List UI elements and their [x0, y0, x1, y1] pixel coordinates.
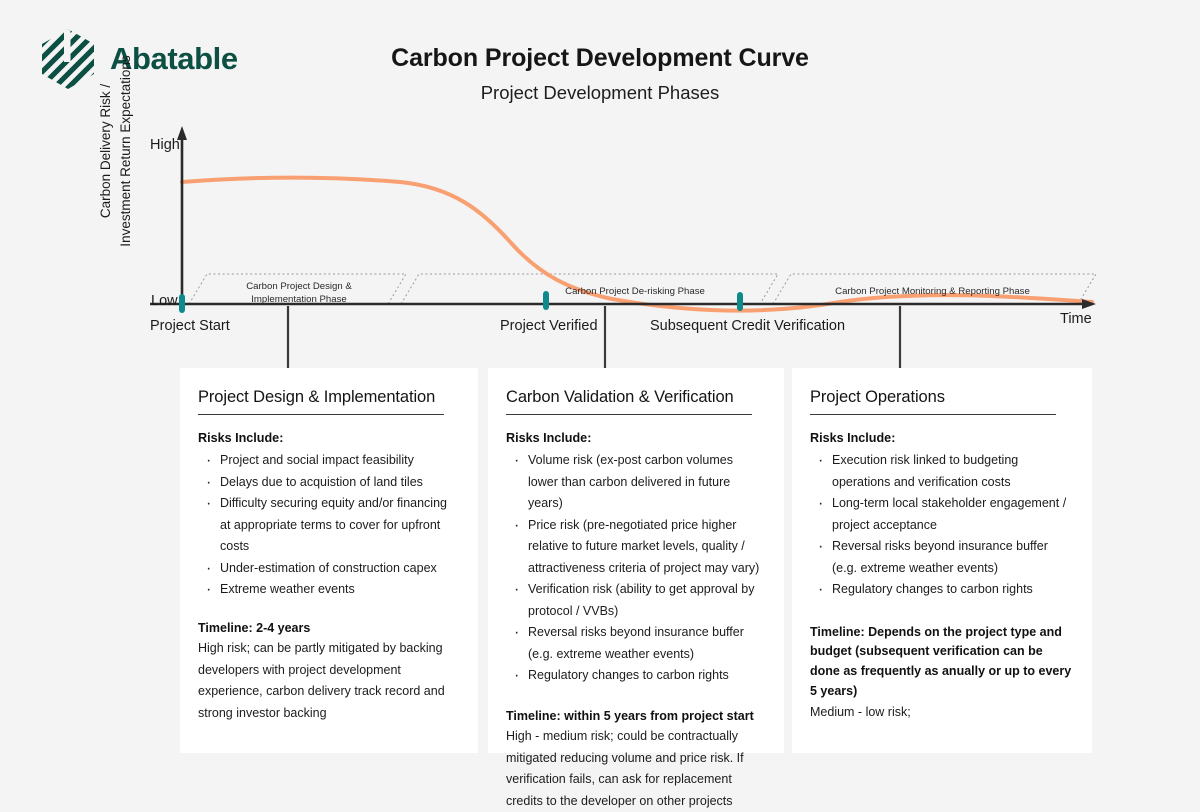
milestone-marker-project-start — [179, 294, 185, 313]
phase-label-monitoring-reporting: Carbon Project Monitoring & Reporting Ph… — [790, 286, 1075, 299]
risk-item: Price risk (pre-negotiated price higher … — [526, 515, 766, 580]
card-connector-lines — [288, 306, 900, 368]
card-title: Project Design & Implementation — [198, 388, 444, 415]
risks-list: Execution risk linked to budgeting opera… — [810, 450, 1074, 601]
card-title: Carbon Validation & Verification — [506, 388, 752, 415]
milestone-label-subsequent-credit-verification: Subsequent Credit Verification — [650, 318, 845, 334]
risk-item: Regulatory changes to carbon rights — [830, 579, 1074, 601]
milestone-label-project-start: Project Start — [150, 318, 230, 334]
timeline-block: Timeline: 2-4 years High risk; can be pa… — [198, 619, 460, 725]
timeline-body: High risk; can be partly mitigated by ba… — [198, 638, 460, 724]
risk-item: Extreme weather events — [218, 579, 460, 601]
risk-item: Under-estimation of construction capex — [218, 558, 460, 580]
risk-item: Volume risk (ex-post carbon volumes lowe… — [526, 450, 766, 515]
risk-item: Project and social impact feasibility — [218, 450, 460, 472]
y-tick-low: Low — [151, 293, 178, 309]
phase-card-project-operations: Project Operations Risks Include: Execut… — [792, 368, 1092, 753]
y-axis-title: Carbon Delivery Risk / Investment Return… — [96, 46, 135, 256]
y-axis-title-line-1: Carbon Delivery Risk / — [96, 46, 116, 256]
phase-label-design-implementation: Carbon Project Design & Implementation P… — [213, 281, 385, 306]
risks-list: Volume risk (ex-post carbon volumes lowe… — [506, 450, 766, 687]
phase-label-de-risking: Carbon Project De-risking Phase — [460, 286, 810, 299]
timeline-heading: Timeline: within 5 years from project st… — [506, 707, 766, 727]
risk-item: Delays due to acquistion of land tiles — [218, 472, 460, 494]
y-axis-title-line-2: Investment Return Expectations — [116, 46, 136, 256]
risks-heading: Risks Include: — [198, 431, 460, 445]
risk-item: Verification risk (ability to get approv… — [526, 579, 766, 622]
phase-cards-row: Project Design & Implementation Risks In… — [0, 368, 1200, 784]
page-subtitle: Project Development Phases — [0, 82, 1200, 104]
timeline-block: Timeline: within 5 years from project st… — [506, 707, 766, 812]
risk-item: Reversal risks beyond insurance buffer (… — [830, 536, 1074, 579]
card-title: Project Operations — [810, 388, 1056, 415]
timeline-body: Medium - low risk; — [810, 702, 1074, 724]
page-title: Carbon Project Development Curve — [0, 44, 1200, 73]
x-axis-title: Time — [1060, 311, 1092, 327]
timeline-body: High - medium risk; could be contractual… — [506, 726, 766, 812]
risks-heading: Risks Include: — [810, 431, 1074, 445]
phase-card-project-design-implementation: Project Design & Implementation Risks In… — [180, 368, 478, 753]
risk-item: Long-term local stakeholder engagement /… — [830, 493, 1074, 536]
risks-list: Project and social impact feasibility De… — [198, 450, 460, 601]
timeline-block: Timeline: Depends on the project type an… — [810, 623, 1074, 724]
milestone-label-project-verified: Project Verified — [500, 318, 598, 334]
risk-item: Difficulty securing equity and/or financ… — [218, 493, 460, 558]
timeline-heading: Timeline: 2-4 years — [198, 619, 460, 639]
risk-item: Execution risk linked to budgeting opera… — [830, 450, 1074, 493]
header-block: Carbon Project Development Curve Project… — [0, 44, 1200, 104]
risk-item: Regulatory changes to carbon rights — [526, 665, 766, 687]
phase-card-carbon-validation-verification: Carbon Validation & Verification Risks I… — [488, 368, 784, 753]
page-root: Abatable Carbon Project Development Curv… — [0, 0, 1200, 784]
risk-item: Reversal risks beyond insurance buffer (… — [526, 622, 766, 665]
risks-heading: Risks Include: — [506, 431, 766, 445]
timeline-heading: Timeline: Depends on the project type an… — [810, 623, 1074, 702]
y-tick-high: High — [150, 137, 180, 153]
